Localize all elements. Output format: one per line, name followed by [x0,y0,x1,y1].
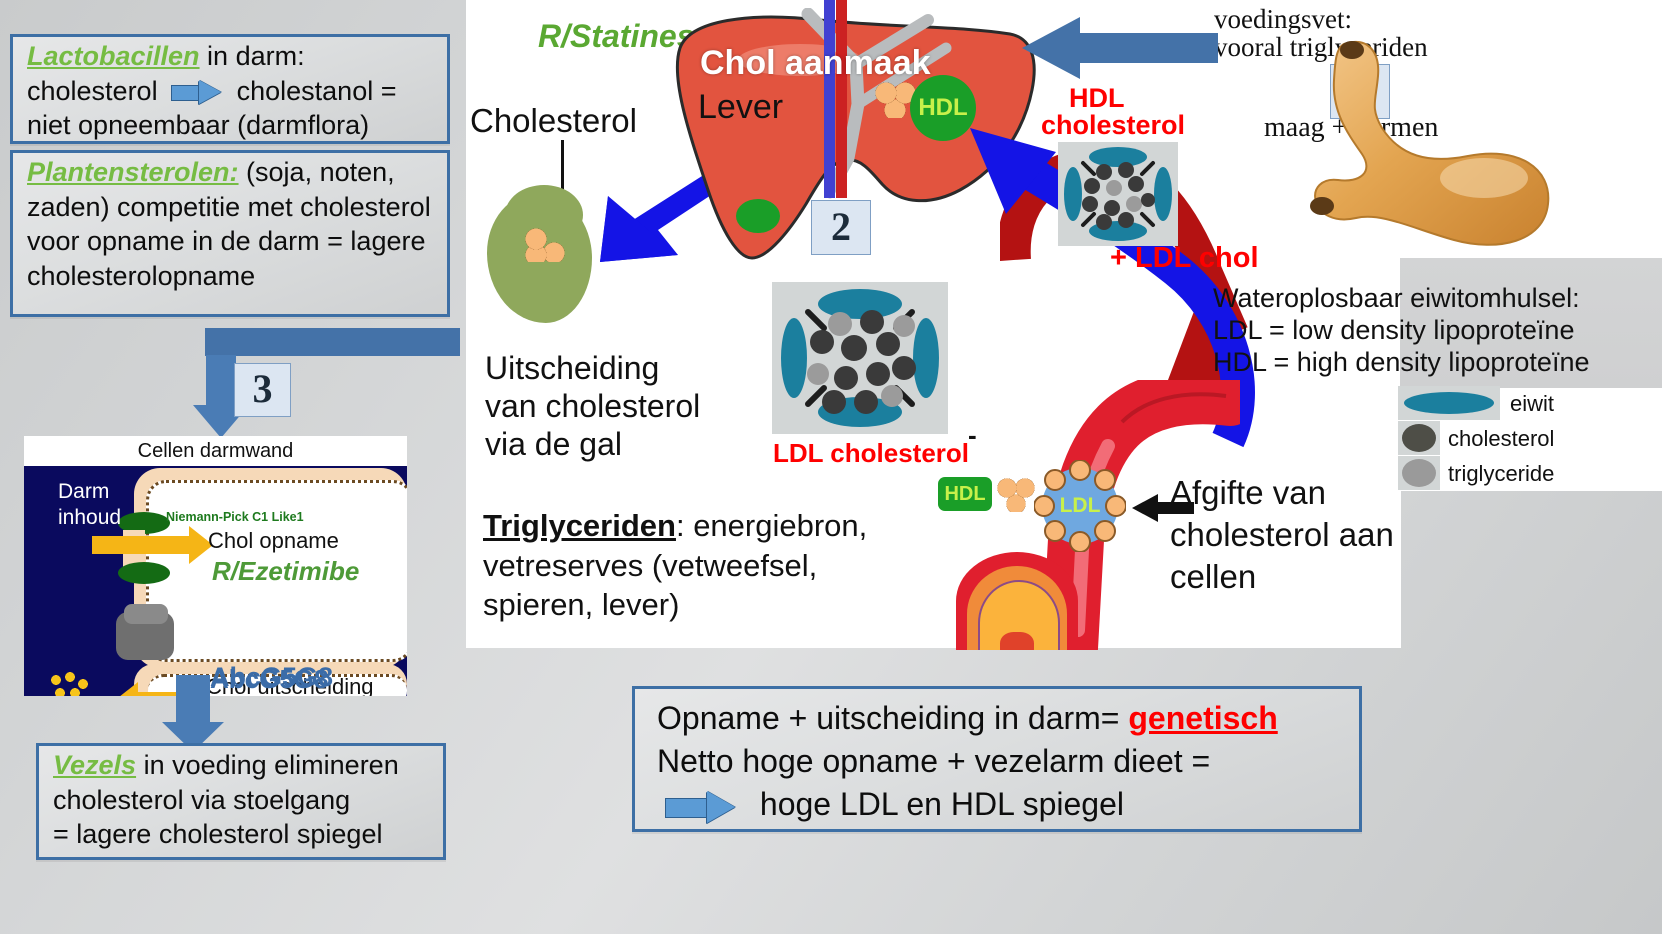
chol-molecule-cluster-vessel-icon [996,478,1036,512]
conclusion-text: Opname + uitscheiding in darm= genetisch… [635,689,1359,827]
conclusion-line2: Netto hoge opname + vezelarm dieet = [657,740,1359,783]
legend-swatch-cholesterol-icon [1402,424,1436,452]
lactobacillen-line1-rest: in darm: [200,41,305,71]
lactobacillen-text: Lactobacillen in darm: cholesterol chole… [13,37,447,149]
conversion-arrow-icon [171,81,223,103]
legend-label-cholesterol: cholesterol [1448,426,1554,452]
dietary-fat-line1: voedingsvet: [1214,4,1352,35]
hdl-vessel-badge-label: HDL [938,477,992,511]
gut-caption-top: Cellen darmwand [24,440,407,463]
hdl-cholesterol-line2: cholesterol [1041,110,1185,141]
liver-title: Chol aanmaak [700,44,931,83]
triglycerides-line1-rest: : energiebron, [676,508,867,543]
step2-badge: 2 [811,200,871,255]
legend-label-triglyceride: triglyceride [1448,461,1554,487]
step3-connector-bar [205,328,460,356]
delivery-line3: cellen [1170,558,1256,596]
plus-ldl-chol-label: + LDL chol [1110,242,1259,275]
hdl-particle-image [1058,142,1178,246]
bile-excretion-line3: via de gal [485,426,622,463]
chol-uptake-label: Chol opname [208,528,339,554]
legend-item-eiwit: eiwit [1398,386,1660,420]
bile-excretion-line2: van cholesterol [485,388,700,425]
vessel-cross-section-icon [956,552,1078,650]
legend-item-triglyceride: triglyceride [1398,456,1660,490]
conclusion-line1-a: Opname + uitscheiding in darm= [657,700,1128,736]
step3-badge: 3 [234,363,291,417]
triglycerides-line2: vetreserves (vetweefsel, [483,546,923,586]
vezels-term: Vezels [53,750,136,780]
legend-line3: HDL = high density lipoproteïne [1213,347,1589,378]
plantensterolen-line2: zaden) competitie met cholesterol [27,190,437,225]
conclusion-line3: hoge LDL en HDL spiegel [760,786,1124,822]
stomach-to-liver-arrow-icon [1018,15,1218,87]
delivery-line2: cholesterol aan [1170,516,1394,554]
legend-line1: Wateroplosbaar eiwitomhulsel: [1213,283,1580,314]
triglycerides-text: Triglyceriden: energiebron, vetreserves … [483,506,923,625]
ldl-vessel-shell-icon [1034,460,1126,552]
lactobacillen-line2-b: cholestanol = [237,76,397,106]
gut-wall-illustration: Cellen darmwand Darm inhoud Niemann-Pick… [24,436,407,696]
lactobacillen-line3: niet opneembaar (darmflora) [27,108,437,143]
ezetimibe-label: R/Ezetimibe [212,556,359,587]
vezels-text: Vezels in voeding elimineren cholesterol… [39,746,443,858]
lactobacillen-box: Lactobacillen in darm: cholesterol chole… [10,34,450,144]
liver-label: Lever [698,88,783,127]
legend-item-cholesterol: cholesterol [1398,421,1660,455]
lactobacillen-term: Lactobacillen [27,41,200,71]
portal-vein-icon [824,0,835,198]
vezels-line3: = lagere cholesterol spiegel [53,817,433,852]
conclusion-arrow-icon [665,793,737,821]
plantensterolen-line4: cholesterolopname [27,259,437,294]
triglycerides-term: Triglyceriden [483,508,676,543]
gut-lumen-label-line1: Darm [58,480,109,504]
legend-swatch-triglyceride-icon [1402,459,1436,487]
legend-label-eiwit: eiwit [1510,391,1554,417]
lactobacillen-line2-a: cholesterol [27,76,158,106]
cholesterol-label: Cholesterol [470,102,637,140]
plantensterolen-line1-rest: (soja, noten, [239,157,395,187]
stomach-icon [1308,36,1558,258]
vezels-line2: cholesterol via stoelgang [53,783,433,818]
legend-swatch-eiwit-icon [1404,392,1494,414]
step2-badge-label: 2 [812,201,870,252]
plantensterolen-text: Plantensterolen: (soja, noten, zaden) co… [13,153,447,299]
step3-badge-label: 3 [235,364,290,414]
hepatic-artery-icon [836,0,847,198]
hdl-vessel-badge: HDL [938,477,992,511]
vezels-line1-rest: in voeding elimineren [136,750,399,780]
vezels-box: Vezels in voeding elimineren cholesterol… [36,743,446,860]
npc1l1-label: Niemann-Pick C1 Like1 [166,510,304,524]
conclusion-box: Opname + uitscheiding in darm= genetisch… [632,686,1362,832]
abcg5g8-overlay-label: AbcG5G8 [210,662,333,693]
ldl-particle-image [772,282,948,434]
legend-line2: LDL = low density lipoproteïne [1213,315,1574,346]
plantensterolen-term: Plantensterolen: [27,157,239,187]
gut-lumen-label-line2: inhoud [58,506,121,530]
bile-excretion-line1: Uitscheiding [485,350,659,387]
plantensterolen-box: Plantensterolen: (soja, noten, zaden) co… [10,150,450,317]
triglycerides-line3: spieren, lever) [483,585,923,625]
conclusion-genetisch: genetisch [1128,700,1277,736]
delivery-line1: Afgifte van [1170,474,1326,512]
plantensterolen-line3: voor opname in de darm = lagere [27,224,437,259]
